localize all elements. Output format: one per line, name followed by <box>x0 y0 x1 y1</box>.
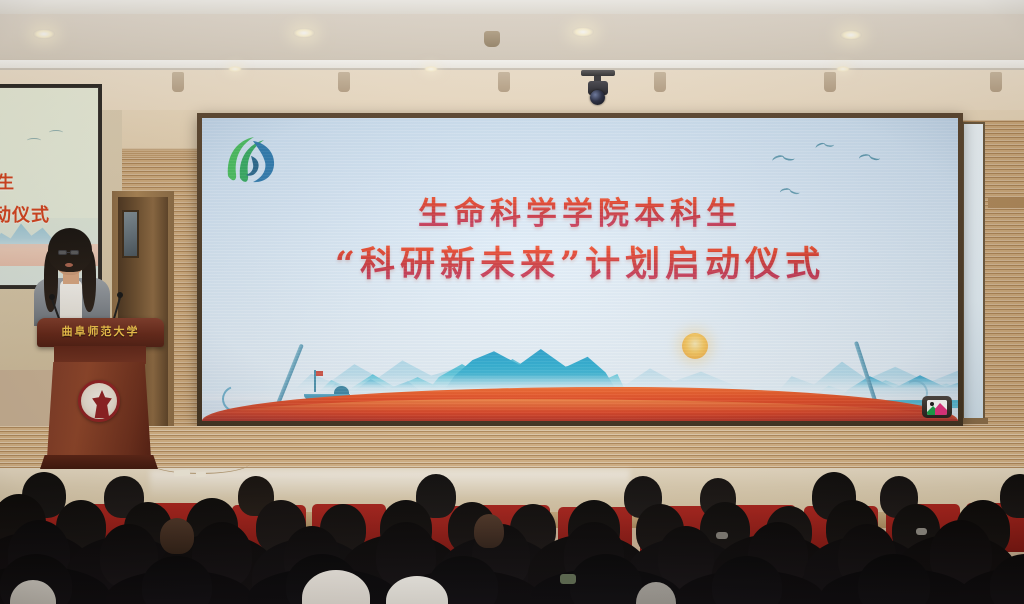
presenter-shirt <box>60 280 82 322</box>
ceiling-upper-band <box>0 0 1024 14</box>
ceiling-main-panel <box>0 14 1024 63</box>
right-window <box>962 122 985 422</box>
ceiling-spot-can-icon <box>338 72 350 92</box>
side-door-window <box>122 210 139 258</box>
led-title-line-1: 生命科学学院本科生 <box>202 192 958 236</box>
ceiling-camera-lens-icon <box>590 90 605 105</box>
left-screen-text-line1: 生 <box>0 168 15 193</box>
ceiling-spot-light-icon <box>836 66 850 72</box>
auditorium-photo: 生 动仪式 生命科学学院本科生 “科研新未来”计划启动仪式 <box>0 0 1024 604</box>
seated-audience <box>0 470 1024 604</box>
broken-image-icon[interactable] <box>922 396 952 418</box>
presenter-glasses-left-icon <box>58 250 67 255</box>
ceiling-downlight-icon <box>293 28 315 38</box>
university-crest-glyph <box>89 390 115 418</box>
smoke-detector-icon <box>484 31 500 47</box>
led-title-line-2: “科研新未来”计划启动仪式 <box>202 240 958 290</box>
ceiling-spot-can-icon <box>654 72 666 92</box>
left-screen-bird-icon <box>27 138 41 143</box>
ceiling-spot-light-icon <box>228 66 242 72</box>
college-swirl-logo <box>220 132 282 188</box>
left-screen-bird-icon <box>49 130 63 135</box>
university-crest-icon <box>78 380 120 422</box>
audience-hair-brown <box>474 514 504 548</box>
ceiling-spot-can-icon <box>498 72 510 92</box>
microphone-head-icon <box>49 294 55 300</box>
podium-base <box>40 455 158 469</box>
sun-icon <box>682 333 708 359</box>
ceiling-downlight-icon <box>840 30 862 40</box>
ceiling-spot-can-icon <box>172 72 184 92</box>
left-screen-sky <box>0 88 98 218</box>
led-title-block: 生命科学学院本科生 “科研新未来”计划启动仪式 <box>202 192 958 290</box>
ceiling-spot-light-icon <box>424 66 438 72</box>
microphone-head-icon-2 <box>117 292 123 298</box>
presenter-mouth <box>65 263 73 267</box>
boat-cabin <box>334 386 349 394</box>
hair-clip-icon <box>560 574 576 584</box>
podium-nameplate: 曲阜师范大学 <box>37 323 164 339</box>
presenter-glasses-right-icon <box>70 250 79 255</box>
ceiling-spot-can-icon <box>824 72 836 92</box>
ceiling-downlight-icon <box>572 27 594 37</box>
ceiling-spot-can-icon <box>990 72 1002 92</box>
led-display[interactable]: 生命科学学院本科生 “科研新未来”计划启动仪式 <box>202 118 958 421</box>
right-window-sill <box>960 418 988 424</box>
podium-neck <box>54 346 146 364</box>
audience-hair-brown <box>160 518 194 554</box>
boat-flag-icon <box>316 371 323 376</box>
hair-clip-icon <box>916 528 927 535</box>
presenter-glasses-bridge <box>67 252 70 253</box>
broken-image-glyph <box>927 400 947 415</box>
ceiling-downlight-icon <box>33 29 55 39</box>
ceiling-soffit <box>0 70 1024 112</box>
right-wall-beam <box>988 198 1024 208</box>
hair-clip-icon <box>716 532 728 539</box>
left-screen-text-line2: 动仪式 <box>0 201 50 227</box>
